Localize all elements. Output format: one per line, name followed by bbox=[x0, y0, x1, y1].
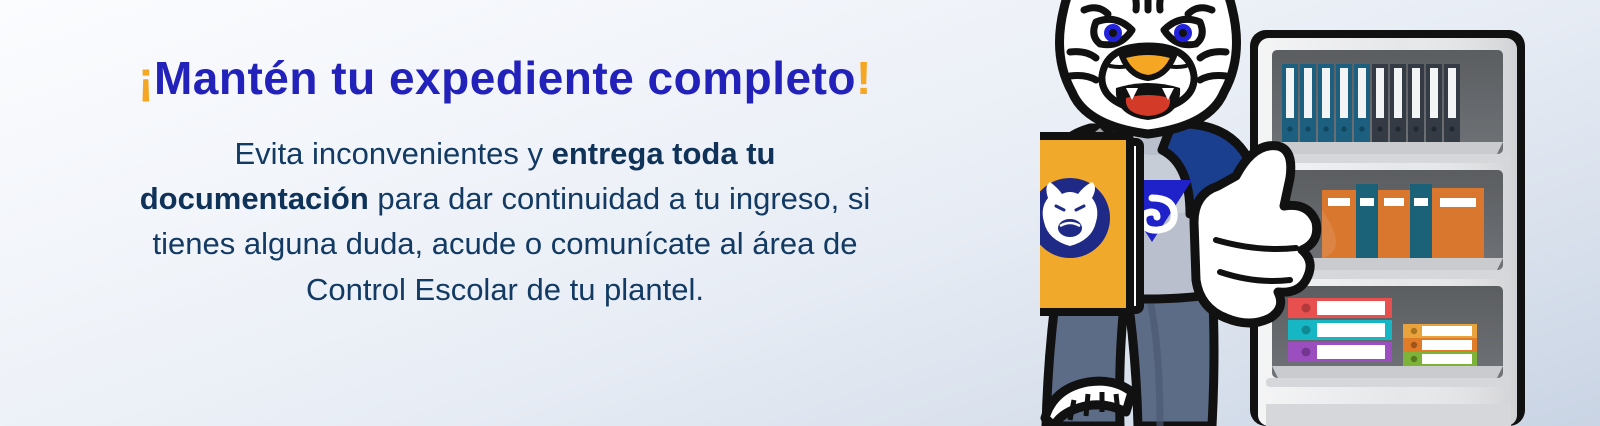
body-line-2-plain-b: para dar continuidad a tu ingreso, si bbox=[369, 181, 870, 216]
headline-text: Mantén tu expediente completo bbox=[154, 52, 856, 104]
inverted-exclamation-mark: ¡ bbox=[138, 52, 154, 104]
top-shelf-binders bbox=[1266, 50, 1511, 163]
body-line-2: documentación para dar continuidad a tu … bbox=[55, 176, 955, 221]
body-line-1-bold: entrega toda tu bbox=[552, 136, 776, 171]
student-file-folder bbox=[1040, 136, 1140, 312]
body-line-2-bold: documentación bbox=[140, 181, 369, 216]
mascot-head bbox=[1060, 0, 1237, 134]
body-line-3: tienes alguna duda, acude o comunícate a… bbox=[55, 221, 955, 266]
banner-text-block: ¡Mantén tu expediente completo! Evita in… bbox=[0, 52, 1010, 312]
binder-group-middle bbox=[1322, 184, 1484, 258]
page-title: ¡Mantén tu expediente completo! bbox=[0, 52, 1010, 105]
body-line-4: Control Escolar de tu plantel. bbox=[55, 267, 955, 312]
banner-body-copy: Evita inconvenientes y entrega toda tu d… bbox=[55, 131, 955, 312]
body-line-1: Evita inconvenientes y entrega toda tu bbox=[55, 131, 955, 176]
body-line-1-plain-a: Evita inconvenientes y bbox=[235, 136, 552, 171]
bottom-left-stack bbox=[1288, 298, 1392, 362]
bottom-shelf-binders bbox=[1266, 286, 1511, 387]
banner-illustration bbox=[1040, 0, 1600, 426]
bottom-right-stack bbox=[1403, 324, 1477, 366]
exclamation-mark: ! bbox=[856, 52, 872, 104]
promo-banner: ¡Mantén tu expediente completo! Evita in… bbox=[0, 0, 1600, 426]
